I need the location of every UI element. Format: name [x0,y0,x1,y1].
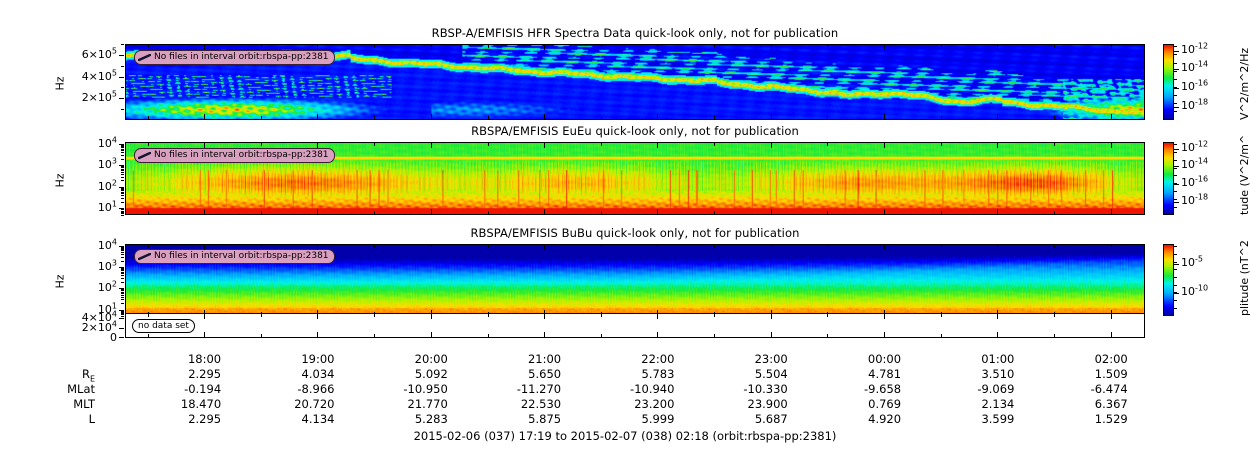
ytick-minor-eueu [121,159,124,160]
ytick-minor-eueu [121,215,124,216]
ephemeris-value: 4.134 [262,412,334,426]
xtick-minor-top [488,314,489,317]
ephemeris-value: 5.687 [716,412,788,426]
ytick-minor-bubu [121,312,124,313]
ytick-minor-eueu [121,209,124,210]
colorbar-minor-tick [1174,144,1177,145]
xtick-major-top [657,314,658,319]
xtick-time-label: 21:00 [489,352,561,366]
colorbar-minor-tick [1174,191,1177,192]
ytick-minor-bubu [121,316,124,317]
ytick-minor-bubu [121,272,124,273]
colorbar-minor-tick [1174,54,1177,55]
ephemeris-value: 1.509 [1056,367,1128,381]
colorbar-minor-tick [1174,79,1177,80]
colorbar-minor-tick [1174,254,1177,255]
ytick-minor-bubu [121,270,124,271]
xtick-minor-top [1054,314,1055,317]
colorbar-tick-label: 10-12 [1181,143,1208,153]
ytick-minor-eueu [121,170,124,171]
xtick-major-top [771,314,772,319]
ytick-label-eueu: 103 [98,160,117,170]
ephemeris-value: -11.270 [489,382,561,396]
ephemeris-value: 23.900 [716,397,788,411]
ytick-minor-hfr [121,66,124,67]
colorbar-tick-label: 10-18 [1181,101,1208,111]
no-files-line-icon [138,253,151,261]
no-files-annotation-hfr[interactable]: No files in interval orbit:rbspa-pp:2381 [134,50,335,65]
xtick-minor [941,211,942,214]
xtick-major-top [997,245,998,250]
ytick-minor-bubu [121,313,124,314]
colorbar-tick [1174,107,1179,108]
ephemeris-value: 5.650 [489,367,561,381]
colorbar-tick [1174,184,1179,185]
xtick-major [544,209,545,214]
no-data-set-label: no data set [132,319,195,333]
xtick-minor-top [714,45,715,48]
yaxis-label-bubu: Hz [54,269,67,289]
xtick-minor-top [261,45,262,48]
ytick-minor-hfr [121,109,124,110]
xtick-minor-top [714,143,715,146]
ytick-empty [119,328,124,329]
ytick-minor-bubu [121,268,124,269]
ephemeris-value: 5.999 [602,412,674,426]
xtick-major-top [997,143,998,148]
xtick-minor [714,211,715,214]
xtick-major [884,209,885,214]
spectrogram-panel-empty[interactable] [125,313,1145,338]
ytick-minor-eueu [121,177,124,178]
xtick-major-top [884,245,885,250]
xtick-minor-top [601,314,602,317]
xtick-minor-top [1054,245,1055,248]
xtick-minor [374,211,375,214]
xtick-minor [374,116,375,119]
xtick-minor-top [827,245,828,248]
ytick-minor-bubu [121,295,124,296]
ephemeris-value: 5.875 [489,412,561,426]
xtick-major-top [204,143,205,148]
xtick-major [884,332,885,337]
ytick-label-eueu: 101 [98,203,117,213]
ytick-minor-bubu [121,311,124,312]
no-files-annotation-text: No files in interval orbit:rbspa-pp:2381 [154,52,329,63]
xtick-minor-top [261,245,262,248]
ephemeris-value: -10.950 [376,382,448,396]
ephemeris-value: 1.529 [1056,412,1128,426]
xtick-major [431,114,432,119]
ephemeris-value: 6.367 [1056,397,1128,411]
ytick-label-eueu: 104 [98,139,117,149]
colorbar-minor-tick [1174,207,1177,208]
panel-title-hfr: RBSP-A/EMFISIS HFR Spectra Data quick-lo… [125,26,1145,40]
xtick-minor-top [488,245,489,248]
ytick-minor-eueu [121,180,124,181]
ytick-minor-eueu [121,193,124,194]
colorbar-tick [1174,202,1179,203]
colorbar-tick-label: 10-16 [1181,178,1208,188]
ephemeris-value: -6.474 [1056,382,1128,396]
xtick-major-top [544,314,545,319]
xtick-major-top [431,143,432,148]
xtick-major-top [884,143,885,148]
ephemeris-value: 20.720 [262,397,334,411]
xtick-major-top [317,143,318,148]
xtick-major-top [771,45,772,50]
xtick-major-top [431,314,432,319]
ephemeris-value: 2.295 [149,412,221,426]
ephemeris-row-label-r: RE [0,367,95,381]
ytick-minor-bubu [121,299,124,300]
colorbar-minor-tick [1174,152,1177,153]
xtick-major-top [657,245,658,250]
ytick-minor-eueu [121,145,124,146]
xtick-minor-top [374,245,375,248]
xtick-major [1111,209,1112,214]
ytick-minor-bubu [121,257,124,258]
xtick-minor-top [601,143,602,146]
ytick-minor-eueu [121,172,124,173]
ytick-label-bubu: 104 [98,241,117,251]
ytick-minor-bubu [121,289,124,290]
xtick-minor-top [1054,45,1055,48]
xtick-minor [827,116,828,119]
xtick-time-label: 02:00 [1056,352,1128,366]
no-files-annotation-bubu[interactable]: No files in interval orbit:rbspa-pp:2381 [134,249,335,264]
ephemeris-value: 22.530 [489,397,561,411]
ytick-minor-bubu [121,278,124,279]
xtick-major [771,209,772,214]
colorbar-minor-tick [1174,246,1177,247]
colorbar-minor-tick [1174,199,1177,200]
xtick-time-label: 23:00 [716,352,788,366]
xtick-minor [1054,116,1055,119]
colorbar-tick-label: 10-10 [1181,287,1208,297]
ephemeris-value: -10.940 [602,382,674,396]
colorbar-hfr[interactable] [1163,44,1174,120]
colorbar-minor-tick [1174,71,1177,72]
ytick-minor-eueu [121,174,124,175]
ytick-minor-eueu [121,167,124,168]
xtick-major-top [1111,245,1112,250]
ytick-minor-bubu [121,297,124,298]
ytick-minor-eueu [121,149,124,150]
ytick-minor-eueu [121,202,124,203]
colorbar-minor-tick [1174,269,1177,270]
panel-title-bubu: RBSPA/EMFISIS BuBu quick-look only, not … [125,226,1145,240]
ytick-minor-eueu [121,166,124,167]
ephemeris-value: 4.781 [829,367,901,381]
xtick-major [657,114,658,119]
ytick-minor-eueu [121,190,124,191]
ephemeris-value: 18.470 [149,397,221,411]
ytick-minor-eueu [121,169,124,170]
xtick-major-top [544,143,545,148]
ephemeris-value: -10.330 [716,382,788,396]
colorbar-minor-tick [1174,46,1177,47]
xtick-major-top [1111,314,1112,319]
ytick-minor-bubu [121,273,124,274]
xtick-minor [714,334,715,337]
ephemeris-value: -9.069 [942,382,1014,396]
ytick-minor-hfr [121,44,124,45]
xtick-minor-top [827,314,828,317]
xtick-major-top [997,45,998,50]
colorbar-tick-label: 10-18 [1181,196,1208,206]
xtick-major [771,332,772,337]
xtick-minor-top [148,143,149,146]
xtick-minor [1054,211,1055,214]
ephemeris-value: 23.200 [602,397,674,411]
ytick-empty [119,318,124,319]
yaxis-label-eueu: Hz [54,168,67,188]
colorbar-minor-tick [1174,95,1177,96]
ytick-minor-eueu [121,189,124,190]
xtick-major-top [997,314,998,319]
xtick-minor-top [148,45,149,48]
xtick-major [317,114,318,119]
ytick-minor-eueu [121,188,124,189]
xtick-minor-top [148,314,149,317]
ephemeris-value: -0.194 [149,382,221,396]
xtick-minor [148,334,149,337]
xtick-major-top [544,45,545,50]
xtick-minor [941,116,942,119]
xtick-major-top [204,245,205,250]
colorbar-minor-tick [1174,160,1177,161]
xtick-major-top [657,45,658,50]
xtick-minor [601,211,602,214]
ephemeris-value: -8.966 [262,382,334,396]
xtick-time-label: 22:00 [602,352,674,366]
ephemeris-value: 5.504 [716,367,788,381]
xtick-major-top [317,245,318,250]
no-files-annotation-text: No files in interval orbit:rbspa-pp:2381 [154,251,329,262]
ephemeris-value: 4.920 [829,412,901,426]
ephemeris-value: 5.783 [602,367,674,381]
xtick-major-top [204,314,205,319]
xtick-minor [827,334,828,337]
ephemeris-value: 4.034 [262,367,334,381]
colorbar-tick [1174,88,1179,89]
colorbar-minor-tick [1174,277,1177,278]
colorbar-tick [1174,149,1179,150]
xtick-minor [148,116,149,119]
xtick-major [317,209,318,214]
ytick-minor-bubu [121,250,124,251]
ytick-minor-eueu [121,152,124,153]
ytick-minor-eueu [121,146,124,147]
xtick-minor-top [827,143,828,146]
xtick-minor [261,334,262,337]
xtick-major [1111,114,1112,119]
ytick-minor-bubu [121,252,124,253]
xtick-minor [148,211,149,214]
xtick-major [771,114,772,119]
colorbar-unit-label-eueu: tude (V^2/m^ [1238,135,1250,215]
ephemeris-value: -9.658 [829,382,901,396]
xtick-major [431,209,432,214]
ytick-minor-bubu [121,275,124,276]
colorbar-minor-tick [1174,183,1177,184]
colorbar-minor-tick [1174,87,1177,88]
xtick-major [997,332,998,337]
xtick-minor-top [714,314,715,317]
xtick-major-top [1111,143,1112,148]
ytick-minor-bubu [121,292,124,293]
colorbar-minor-tick [1174,168,1177,169]
ytick-minor-bubu [121,290,124,291]
ytick-label-bubu: 103 [98,262,117,272]
yaxis-label-hfr: Hz [54,71,67,91]
xtick-time-label: 20:00 [376,352,448,366]
xtick-minor [488,334,489,337]
colorbar-minor-tick [1174,300,1177,301]
xtick-major [884,114,885,119]
xtick-major [431,332,432,337]
ytick-label-bubu: 102 [98,283,117,293]
colorbar-minor-tick [1174,308,1177,309]
ytick-minor-eueu [121,147,124,148]
xtick-minor-top [488,143,489,146]
xtick-major-top [544,245,545,250]
ytick-minor-bubu [121,293,124,294]
xtick-major-top [771,245,772,250]
ephemeris-value: 3.599 [942,412,1014,426]
colorbar-minor-tick [1174,63,1177,64]
xtick-minor-top [148,245,149,248]
no-files-line-icon [138,54,151,62]
xtick-minor-top [941,143,942,146]
ytick-minor-eueu [121,192,124,193]
ytick-minor-eueu [121,211,124,212]
ytick-minor-eueu [121,195,124,196]
xtick-major-top [317,45,318,50]
colorbar-minor-tick [1174,262,1177,263]
ytick-label-hfr: 4×105 [82,72,117,82]
colorbar-minor-tick [1174,111,1177,112]
xtick-major-top [657,143,658,148]
ytick-minor-eueu [121,213,124,214]
xtick-minor-top [1054,143,1055,146]
xtick-minor [601,116,602,119]
xtick-minor-top [374,314,375,317]
colorbar-minor-tick [1174,175,1177,176]
xtick-minor-top [261,143,262,146]
xtick-major-top [431,45,432,50]
colorbar-minor-tick [1174,103,1177,104]
ytick-minor-bubu [121,261,124,262]
ytick-minor-bubu [121,254,124,255]
ytick-minor-eueu [121,150,124,151]
ytick-minor-hfr [121,55,124,56]
xtick-minor-top [374,45,375,48]
xtick-major-top [884,45,885,50]
ephemeris-value: 2.134 [942,397,1014,411]
ytick-minor-bubu [121,248,124,249]
xtick-minor [488,116,489,119]
ephemeris-row-label-mlt: MLT [0,397,95,411]
xtick-time-label: 00:00 [829,352,901,366]
no-files-annotation-text: No files in interval orbit:rbspa-pp:2381 [154,150,329,161]
xtick-minor-top [488,45,489,48]
ytick-label-hfr: 6×105 [82,50,117,60]
xtick-minor-top [374,143,375,146]
colorbar-tick [1174,51,1179,52]
ephemeris-value: 5.092 [376,367,448,381]
colorbar-tick-label: 10-5 [1181,258,1203,268]
ytick-empty [119,337,124,338]
ytick-minor-eueu [121,155,124,156]
colorbar-eueu[interactable] [1163,142,1174,215]
ytick-minor-hfr [121,98,124,99]
xtick-minor [827,211,828,214]
ytick-minor-bubu [121,282,124,283]
ytick-minor-bubu [121,314,124,315]
colorbar-tick-label: 10-12 [1181,45,1208,55]
ephemeris-value: 5.283 [376,412,448,426]
ephemeris-value: 0.769 [829,397,901,411]
ephemeris-value: 21.770 [376,397,448,411]
xtick-minor [374,334,375,337]
no-files-annotation-eueu[interactable]: No files in interval orbit:rbspa-pp:2381 [134,148,335,163]
xtick-minor-top [941,245,942,248]
colorbar-unit-label-hfr: V^2/m^2/Hz [1238,48,1250,120]
colorbar-tick-label: 10-16 [1181,82,1208,92]
xtick-major-top [771,143,772,148]
xtick-major [997,209,998,214]
xtick-minor-top [941,314,942,317]
figure-root: RBSP-A/EMFISIS HFR Spectra Data quick-lo… [0,0,1250,449]
xtick-minor [601,334,602,337]
colorbar-tick [1174,264,1179,265]
xtick-major [204,114,205,119]
ytick-minor-bubu [121,269,124,270]
ytick-minor-bubu [121,247,124,248]
ytick-minor-hfr [121,87,124,88]
xtick-major-top [1111,45,1112,50]
xtick-minor-top [714,245,715,248]
xtick-minor [1054,334,1055,337]
xtick-minor [261,211,262,214]
xtick-minor-top [941,45,942,48]
xtick-major [204,332,205,337]
xtick-minor [941,334,942,337]
panel-title-eueu: RBSPA/EMFISIS EuEu quick-look only, not … [125,124,1145,138]
xtick-major [997,114,998,119]
ytick-label-empty: 0 [110,333,117,343]
ytick-label-eueu: 102 [98,182,117,192]
xtick-major-top [317,314,318,319]
ephemeris-value: 3.510 [942,367,1014,381]
ytick-minor-bubu [121,303,124,304]
xtick-minor [261,116,262,119]
xtick-time-label: 18:00 [149,352,221,366]
xtick-minor [714,116,715,119]
figure-caption: 2015-02-06 (037) 17:19 to 2015-02-07 (03… [0,429,1250,443]
colorbar-minor-tick [1174,285,1177,286]
xtick-time-label: 01:00 [942,352,1014,366]
ytick-minor-bubu [121,249,124,250]
ytick-minor-hfr [121,77,124,78]
xtick-major [657,209,658,214]
xtick-major [317,332,318,337]
xtick-major [544,114,545,119]
colorbar-bubu[interactable] [1163,244,1174,316]
colorbar-unit-label-bubu: plitude (nT^2 [1238,240,1250,316]
